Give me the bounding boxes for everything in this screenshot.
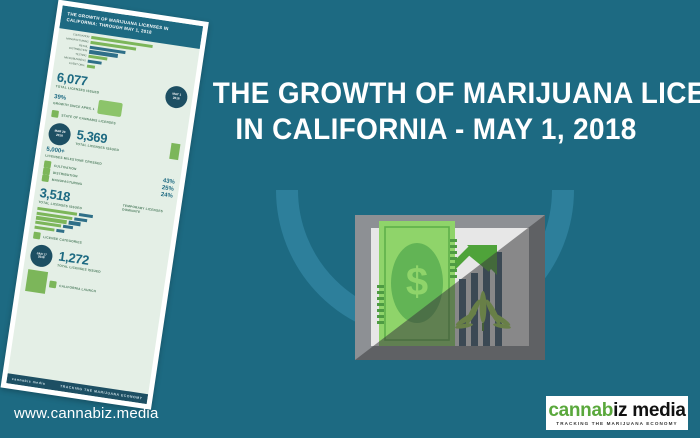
- money-chart-cannabis-illustration: $: [355, 215, 545, 360]
- page-title-line-1: THE GROWTH OF MARIJUANA LICENSES: [213, 76, 659, 112]
- milestone-note: CALIFORNIA LAUNCH: [59, 284, 158, 303]
- logo-wordmark: cannabiz media: [548, 401, 685, 420]
- infographic-body: THE GROWTH OF MARIJUANA LICENSES IN CALI…: [6, 5, 203, 404]
- california-map-icon: [25, 269, 48, 294]
- infographic-footer-tagline: TRACKING THE MARIJUANA ECONOMY: [60, 384, 143, 400]
- date-badge-line-2: 2018: [56, 134, 63, 138]
- logo-word-dark: iz media: [613, 400, 686, 421]
- chart-bar: [87, 64, 95, 68]
- california-map-icon: [169, 143, 180, 160]
- page-title: THE GROWTH OF MARIJUANA LICENSES IN CALI…: [196, 76, 676, 148]
- website-url[interactable]: www.cannabiz.media: [14, 405, 159, 422]
- chart-bar: [63, 225, 73, 230]
- cannabiz-media-logo[interactable]: cannabiz media TRACKING THE MARIJUANA EC…: [546, 396, 688, 430]
- leaf-icon: [42, 174, 50, 182]
- page-title-line-2: IN CALIFORNIA - MAY 1, 2018: [213, 112, 659, 148]
- logo-tagline: TRACKING THE MARIJUANA ECONOMY: [556, 421, 677, 426]
- date-badge-line-2: 2018: [38, 256, 45, 260]
- date-badge: MAY 1 2018: [164, 84, 189, 109]
- date-badge: MAR 20 2018: [47, 122, 72, 147]
- us-map-icon: [97, 100, 123, 117]
- breakdown-pct: 24%: [160, 192, 173, 200]
- logo-word-green: cannab: [548, 400, 613, 421]
- date-badge: JAN 17 2018: [29, 244, 54, 269]
- leaf-icon: [51, 110, 59, 118]
- infographic-card: THE GROWTH OF MARIJUANA LICENSES IN CALI…: [1, 0, 209, 410]
- leaf-icon: [49, 280, 57, 288]
- slide-canvas: $ THE GROWTH OF MARIJUANA LICENSES IN CA…: [0, 0, 700, 438]
- infographic-footer: cannabis media TRACKING THE MARIJUANA EC…: [6, 373, 148, 404]
- infographic-thumbnail[interactable]: THE GROWTH OF MARIJUANA LICENSES IN CALI…: [0, 0, 227, 420]
- svg-text:$: $: [406, 260, 428, 304]
- chart-bar: [56, 229, 64, 233]
- infographic-footer-brand: cannabis media: [12, 377, 46, 386]
- date-badge-line-2: 2018: [173, 97, 180, 101]
- milestone-stat-label: TEMPORARY LICENSES DOMINATE: [122, 204, 171, 219]
- leaf-icon: [33, 232, 41, 240]
